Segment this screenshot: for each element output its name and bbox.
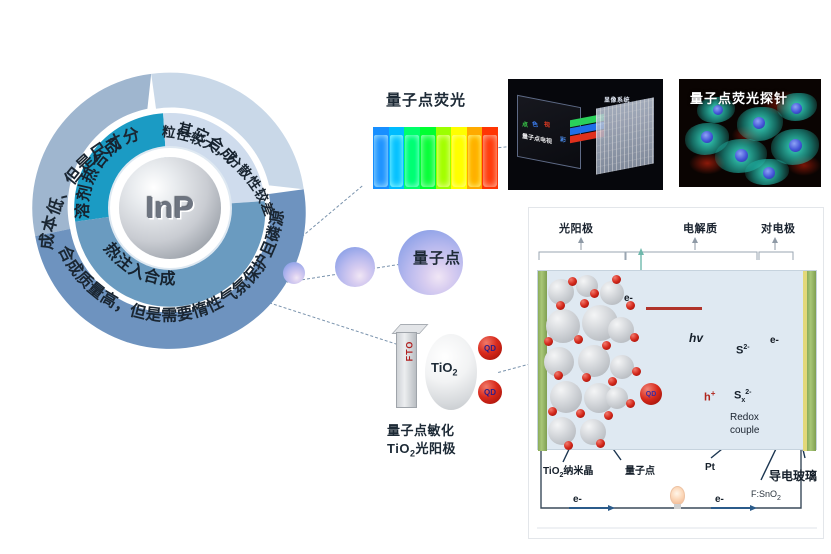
qd-sensitized-photoanode: FTO TiO2 QD QD 量子点敏化 TiO2光阳极 [383, 318, 533, 468]
pt-layer [803, 271, 807, 451]
redox-couple-caption: Redox couple [730, 411, 759, 437]
tio2-nanoparticle [606, 387, 628, 409]
tv-text-2: 色 [532, 119, 538, 129]
tio2-label: TiO2 [431, 360, 457, 378]
tio2-nanocrystal-label: TiO2纳米晶 [543, 462, 593, 479]
qd-dot [608, 377, 617, 386]
vial-4 [420, 127, 436, 189]
qd-dot [612, 275, 621, 284]
quantum-dot-label: 量子点 [413, 247, 461, 268]
cell-interior: e- QD hv h+ S2- Sx2- Redox couple e- [537, 270, 817, 450]
tv-text-4: 量子点电视 [522, 131, 552, 146]
qd-ball-upper: QD [478, 336, 502, 360]
qd-display-image: 点 色 视 量子点电视 彩 显像系统 [508, 79, 663, 190]
fluorescence-title: 量子点荧光 [386, 89, 466, 110]
qd-dot [596, 439, 605, 448]
fto-glass-right [807, 271, 816, 451]
qd-dot [574, 335, 583, 344]
wire-electron-left: e- [573, 494, 582, 505]
core-material-badge[interactable]: InP [119, 157, 221, 259]
qd-dot [564, 441, 573, 450]
pt-label: Pt [705, 462, 715, 473]
infographic-canvas: 成本低、但是尺寸分散性较差 粒径较大，分散性较差 合成质量高，但是需要惰性气氛保… [0, 0, 831, 554]
qd-dot [604, 411, 613, 420]
qd-label-cell: 量子点 [625, 462, 655, 477]
vial-1 [373, 127, 389, 189]
qd-absorber-text: QD [646, 391, 657, 398]
solar-cell-diagram: 光阳极 电解质 对电极 [528, 207, 824, 539]
vial-2 [389, 127, 405, 189]
photoanode-caption: 量子点敏化 TiO2光阳极 [387, 422, 456, 459]
fluorescent-probe-title: 量子点荧光探针 [690, 88, 788, 107]
qd-badge-text: QD [484, 388, 496, 397]
qd-dot [544, 337, 553, 346]
light-bulb-base [674, 504, 681, 509]
cell-nucleus-3 [753, 117, 765, 129]
electron-label-right: e- [770, 335, 779, 346]
redox-species-top: S2- [736, 344, 750, 357]
tio2-nanoparticle [600, 281, 624, 305]
tio2-nanoparticle [548, 417, 576, 445]
redox-species-bottom: Sx2- [734, 389, 751, 404]
cell-nucleus-5 [791, 103, 802, 114]
qd-dot [582, 373, 591, 382]
light-bulb-icon [670, 486, 685, 505]
vial-8 [482, 127, 498, 189]
tv-text-1: 点 [522, 119, 528, 129]
qd-dot [602, 341, 611, 350]
conductive-glass-label: 导电玻璃 [769, 467, 817, 484]
qd-dot [576, 409, 585, 418]
photoanode-caption-line2: TiO2光阳极 [387, 440, 456, 460]
qd-absorber: QD [640, 383, 662, 405]
fsno2-label: F:SnO2 [751, 489, 781, 502]
cell-nucleus-4 [789, 139, 802, 152]
redox-caption-line1: Redox [730, 411, 759, 424]
qd-dot [556, 301, 565, 310]
qd-dot [632, 367, 641, 376]
hole-label: h+ [704, 389, 715, 404]
qd-dot [626, 399, 635, 408]
qd-dot [568, 277, 577, 286]
cell-nucleus-2 [735, 149, 748, 162]
vial-7 [467, 127, 483, 189]
qd-dot [590, 289, 599, 298]
photon-label: hv [689, 331, 703, 345]
fluorescence-vials-image [373, 127, 498, 189]
vial-5 [436, 127, 452, 189]
qd-dot [548, 407, 557, 416]
tio2-nanoparticle [610, 355, 634, 379]
cell-nucleus-6 [763, 167, 775, 179]
qd-dot [554, 371, 563, 380]
cell-nucleus-1 [701, 131, 713, 143]
tv-text-5: 彩 [560, 134, 566, 144]
qd-dot [580, 299, 589, 308]
core-material-label: InP [146, 190, 194, 226]
fto-label: FTO [404, 341, 414, 362]
display-pixel-grid [596, 97, 654, 174]
conduction-band-level [646, 307, 702, 310]
electron-label: e- [624, 293, 633, 304]
tv-text-3: 视 [544, 119, 550, 129]
redox-caption-line2: couple [730, 424, 759, 437]
qd-dot [630, 333, 639, 342]
quantum-dot-sphere-small [283, 262, 305, 284]
qd-ball-lower: QD [478, 380, 502, 404]
vial-6 [451, 127, 467, 189]
wire-electron-right: e- [715, 494, 724, 505]
photoanode-caption-line1: 量子点敏化 [387, 422, 456, 440]
display-system-label: 显像系统 [604, 95, 630, 104]
synthesis-method-wheel: 成本低、但是尺寸分散性较差 粒径较大，分散性较差 合成质量高，但是需要惰性气氛保… [0, 38, 340, 378]
qd-badge-text: QD [484, 344, 496, 353]
vial-3 [404, 127, 420, 189]
quantum-dot-sphere-medium [335, 247, 375, 287]
